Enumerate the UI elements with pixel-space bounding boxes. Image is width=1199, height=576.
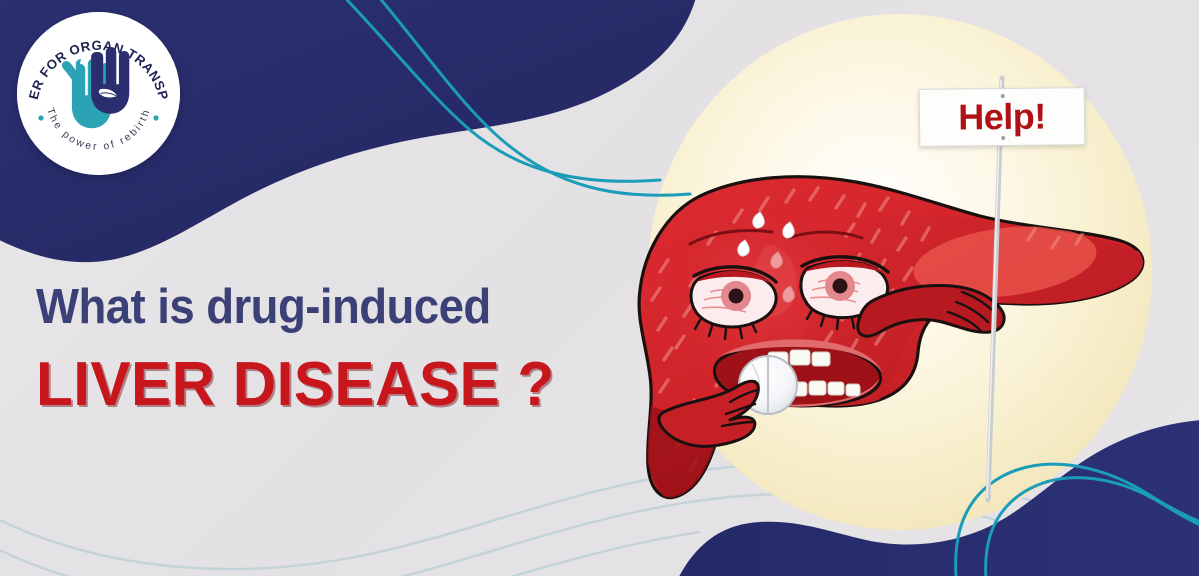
right-pupil [833, 279, 848, 294]
banner-root: CENTER FOR ORGAN TRANSPLANT The power of… [0, 0, 1199, 576]
headline-line-2: LIVER DISEASE ? [36, 354, 555, 416]
left-pupil [729, 289, 744, 304]
sign-screw-top [1001, 94, 1005, 98]
logo-dot-right [153, 115, 158, 120]
logo-svg: CENTER FOR ORGAN TRANSPLANT The power of… [17, 12, 180, 175]
sign-screw-bottom [1001, 136, 1005, 140]
help-sign-board: Help! [919, 87, 1086, 147]
headline-block: What is drug-induced LIVER DISEASE ? [36, 283, 571, 416]
logo-dot-left [38, 115, 43, 120]
liver-body [636, 177, 1161, 504]
headline-line-1: What is drug-induced [36, 283, 533, 332]
help-sign-text: Help! [958, 99, 1046, 136]
navy-hand-icon [91, 47, 129, 114]
logo-badge[interactable]: CENTER FOR ORGAN TRANSPLANT The power of… [17, 12, 180, 175]
